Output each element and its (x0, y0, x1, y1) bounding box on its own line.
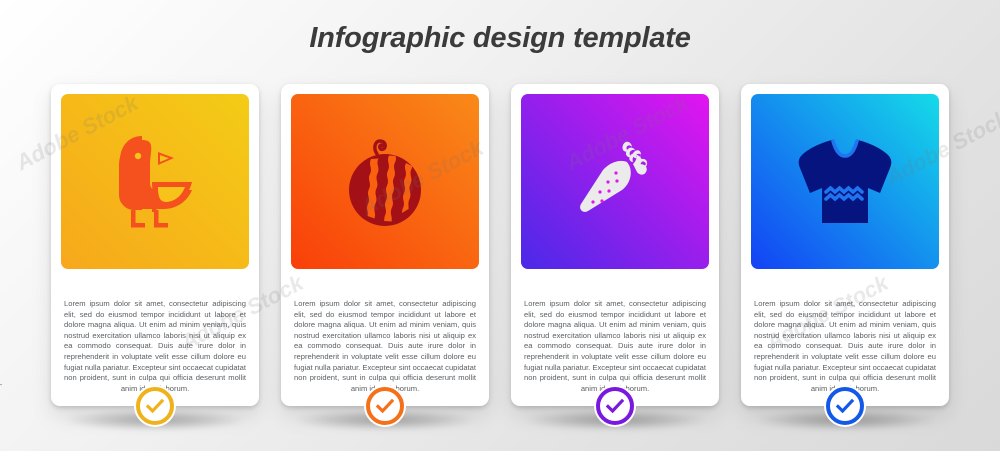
card-panel: Lorem ipsum dolor sit amet, consectetur … (511, 84, 719, 406)
card-body-text: Lorem ipsum dolor sit amet, consectetur … (521, 299, 709, 394)
check-icon (834, 395, 856, 417)
icon-tile (521, 94, 709, 269)
icon-tile (291, 94, 479, 269)
check-icon (374, 395, 396, 417)
stock-id-watermark: Adobe Stock | #475835982 (0, 327, 2, 443)
infographic-card: Lorem ipsum dolor sit amet, consectetur … (511, 84, 719, 406)
infographic-card-row: Lorem ipsum dolor sit amet, consectetur … (0, 84, 1000, 406)
card-panel: Lorem ipsum dolor sit amet, consectetur … (281, 84, 489, 406)
status-badge (364, 385, 406, 427)
status-badge (134, 385, 176, 427)
check-icon (144, 395, 166, 417)
infographic-card: Lorem ipsum dolor sit amet, consectetur … (51, 84, 259, 406)
card-panel: Lorem ipsum dolor sit amet, consectetur … (51, 84, 259, 406)
page-title: Infographic design template (0, 22, 1000, 55)
check-ring (596, 387, 634, 425)
check-ring (826, 387, 864, 425)
status-badge (594, 385, 636, 427)
check-icon (604, 395, 626, 417)
check-ring (136, 387, 174, 425)
carrot-icon (565, 132, 665, 232)
sweater-icon (796, 135, 894, 229)
watermelon-icon (339, 132, 431, 232)
card-body-text: Lorem ipsum dolor sit amet, consectetur … (751, 299, 939, 394)
infographic-card: Lorem ipsum dolor sit amet, consectetur … (281, 84, 489, 406)
icon-tile (751, 94, 939, 269)
icon-tile (61, 94, 249, 269)
infographic-card: Lorem ipsum dolor sit amet, consectetur … (741, 84, 949, 406)
card-body-text: Lorem ipsum dolor sit amet, consectetur … (61, 299, 249, 394)
check-ring (366, 387, 404, 425)
card-panel: Lorem ipsum dolor sit amet, consectetur … (741, 84, 949, 406)
bird-icon (112, 132, 198, 232)
status-badge (824, 385, 866, 427)
card-body-text: Lorem ipsum dolor sit amet, consectetur … (291, 299, 479, 394)
